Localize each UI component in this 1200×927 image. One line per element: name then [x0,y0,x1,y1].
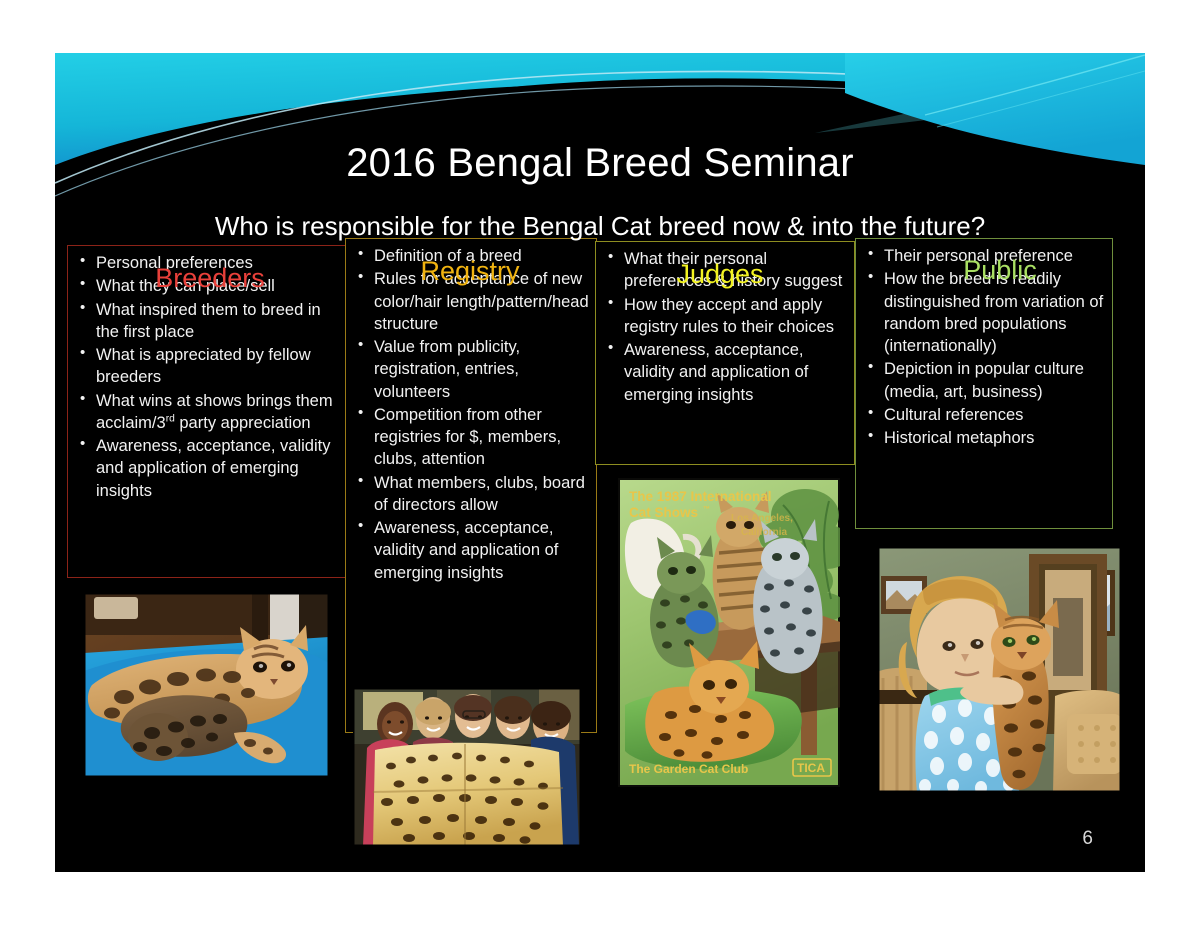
list-item: Awareness, acceptance, validity and appl… [604,339,848,406]
list-item: Value from publicity, registration, entr… [354,336,590,403]
cat-show-poster-illustration: The 1987 International Cat Shows ™ Los A… [615,475,843,790]
list-item: Historical metaphors [864,427,1106,449]
photo-girl-holding-bengal [877,546,1122,793]
bullet-box-breeders: Personal preferences What they can place… [67,245,349,578]
poster-trademark-icon: ™ [703,506,710,513]
photo-bengal-mother-kittens [84,593,329,777]
poster-title-line2: Cat Shows [629,505,698,520]
list-item: How they accept and apply registry rules… [604,294,848,339]
slide-title: 2016 Bengal Breed Seminar [55,143,1145,183]
list-item: What inspired them to breed in the first… [76,299,342,344]
header-cyan-tail [845,53,1145,213]
column-heading-public: Public [875,257,1125,284]
presentation-slide: 2016 Bengal Breed Seminar Who is respons… [55,53,1145,872]
poster-title-line1: The 1987 International [629,489,772,504]
bullet-list-registry: Definition of a breed Rules for acceptan… [346,239,596,591]
list-item: Competition from other registries for $,… [354,404,590,471]
photo-girls-with-pelt [353,688,581,846]
bengal-mother-kittens-illustration [84,593,329,777]
list-item: What wins at shows brings them acclaim/3… [76,390,342,435]
column-heading-registry: Registry [345,258,595,285]
list-item: Awareness, acceptance, validity and appl… [76,435,342,502]
list-item: What members, clubs, board of directors … [354,472,590,517]
column-heading-judges: Judges [595,261,845,288]
bullet-box-registry: Definition of a breed Rules for acceptan… [345,238,597,733]
slide-subtitle: Who is responsible for the Bengal Cat br… [55,213,1145,239]
girls-with-pelt-illustration [353,688,581,846]
girl-holding-bengal-illustration [877,546,1122,793]
photo-cat-show-poster: The 1987 International Cat Shows ™ Los A… [615,475,843,790]
poster-location-line1: Los Angeles, [731,513,793,524]
poster-tica-badge-label: TICA [797,761,825,775]
column-heading-breeders: Breeders [65,265,355,292]
page-number: 6 [1082,828,1093,850]
poster-club-name: The Garden Cat Club [629,762,748,776]
ordinal-suffix: rd [166,413,175,424]
list-item: Cultural references [864,404,1106,426]
poster-location-line2: California [741,527,788,538]
list-item: Awareness, acceptance, validity and appl… [354,517,590,584]
list-item: Depiction in popular culture (media, art… [864,358,1106,403]
list-item: What is appreciated by fellow breeders [76,344,342,389]
